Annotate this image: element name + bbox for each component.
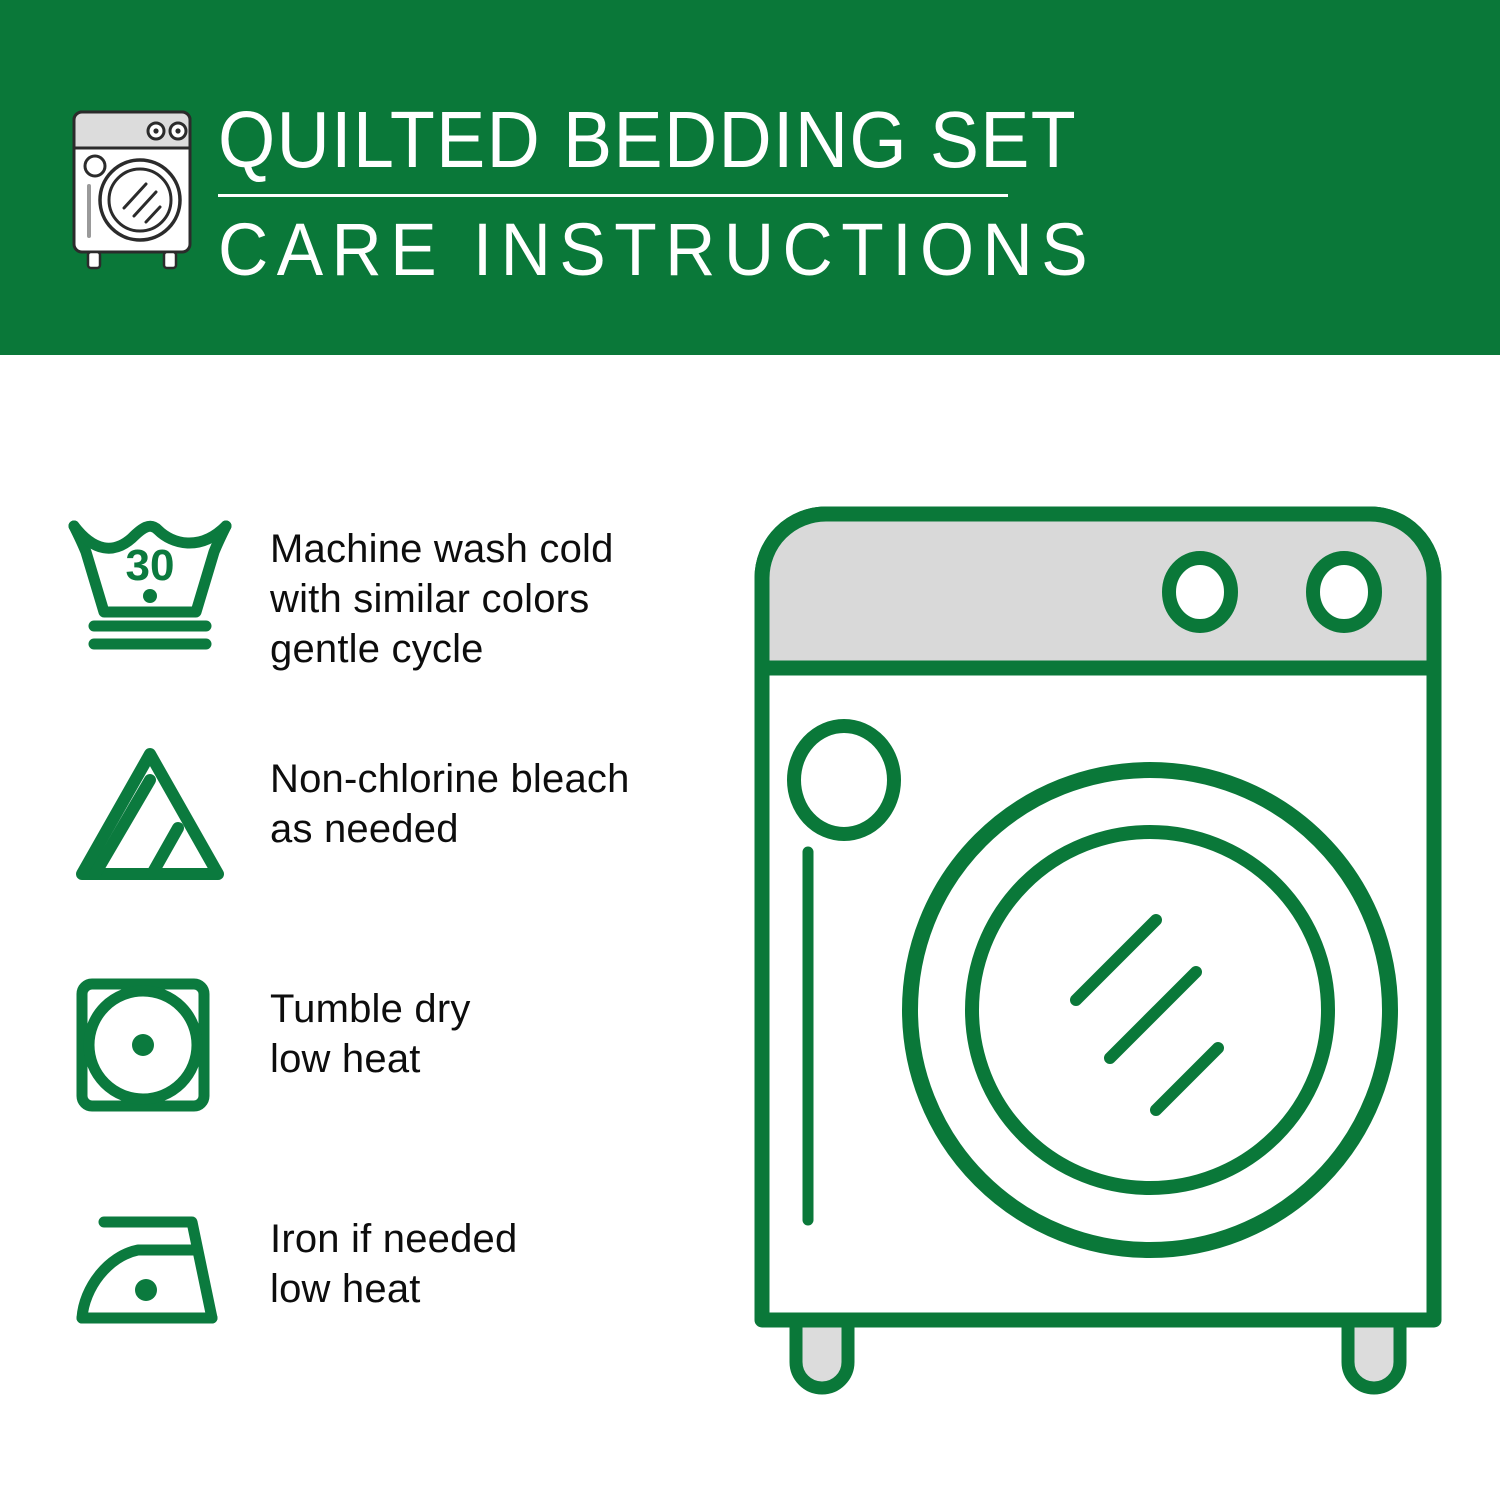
- care-line: Tumble dry: [270, 984, 760, 1034]
- page-subtitle: CARE INSTRUCTIONS: [218, 211, 970, 289]
- page-title: QUILTED BEDDING SET: [218, 98, 954, 182]
- care-row-tumble-dry: Tumble dry low heat: [60, 960, 760, 1190]
- care-text-machine-wash: Machine wash cold with similar colors ge…: [270, 500, 760, 674]
- care-line: low heat: [270, 1034, 760, 1084]
- care-line: low heat: [270, 1264, 760, 1314]
- care-row-bleach: Non-chlorine bleach as needed: [60, 730, 760, 960]
- care-line: as needed: [270, 804, 760, 854]
- care-line: Non-chlorine bleach: [270, 754, 760, 804]
- care-text-bleach: Non-chlorine bleach as needed: [270, 730, 760, 854]
- non-chlorine-bleach-triangle-icon: [60, 730, 270, 888]
- care-line: Iron if needed: [270, 1214, 760, 1264]
- header-text-block: QUILTED BEDDING SET CARE INSTRUCTIONS: [218, 98, 1018, 289]
- care-instructions-infographic: QUILTED BEDDING SET CARE INSTRUCTIONS: [0, 0, 1500, 1500]
- header-banner: QUILTED BEDDING SET CARE INSTRUCTIONS: [0, 0, 1500, 355]
- iron-low-heat-icon: [60, 1190, 270, 1348]
- washing-machine-icon: [62, 104, 202, 274]
- care-row-iron: Iron if needed low heat: [60, 1190, 760, 1420]
- care-line: Machine wash cold: [270, 524, 760, 574]
- title-divider: [218, 194, 1008, 197]
- tumble-dry-low-icon: [60, 960, 270, 1118]
- wash-temperature-label: 30: [126, 541, 175, 590]
- care-text-tumble-dry: Tumble dry low heat: [270, 960, 760, 1084]
- care-row-machine-wash: 30 Machine wash cold with similar colors…: [60, 500, 760, 730]
- care-instruction-list: 30 Machine wash cold with similar colors…: [60, 500, 760, 1420]
- front-load-washing-machine-illustration: [748, 500, 1448, 1430]
- care-text-iron: Iron if needed low heat: [270, 1190, 760, 1314]
- care-line: with similar colors: [270, 574, 760, 624]
- wash-tub-30-gentle-icon: 30: [60, 500, 270, 658]
- care-line: gentle cycle: [270, 624, 760, 674]
